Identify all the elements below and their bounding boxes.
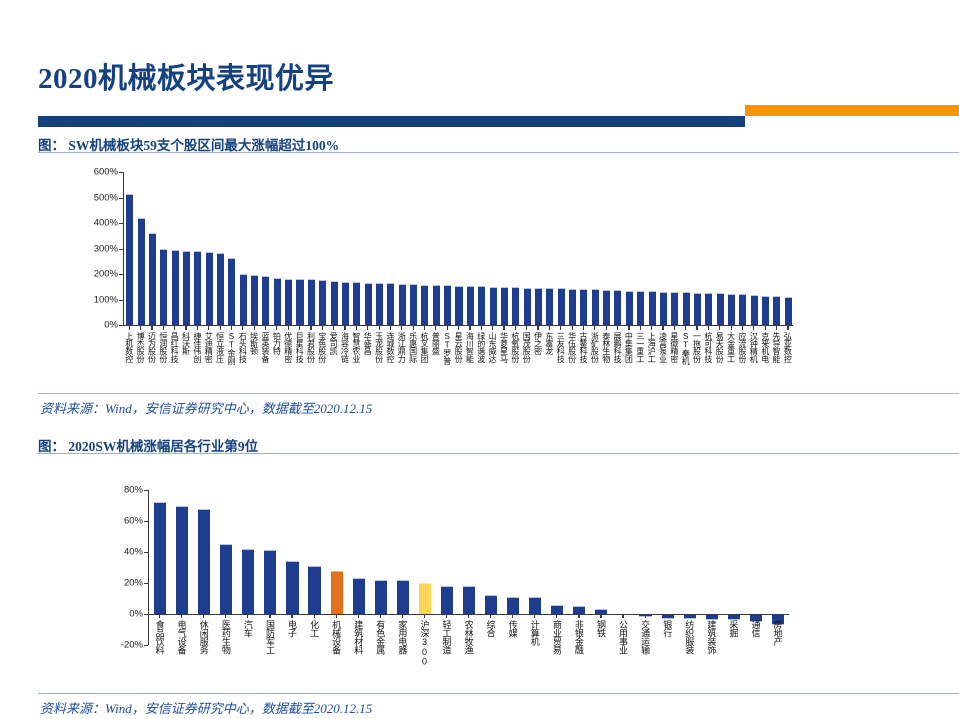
x-axis-label: 国防军工: [265, 620, 274, 654]
bar: [149, 233, 156, 325]
bar: [126, 194, 133, 325]
x-tick-mark: [424, 326, 425, 330]
x-tick-mark: [696, 326, 697, 330]
x-axis-label: 银行: [662, 620, 671, 637]
x-tick-mark: [151, 326, 152, 330]
bar: [569, 289, 576, 325]
y-tick-label: -20%: [121, 640, 143, 650]
x-axis-label: 上海沪工: [647, 332, 655, 362]
bar: [296, 279, 303, 325]
bar: [785, 297, 792, 325]
x-tick-mark: [265, 326, 266, 330]
x-tick-mark: [534, 614, 535, 618]
bar: [478, 286, 485, 325]
x-tick-mark: [578, 614, 579, 618]
x-tick-mark: [667, 614, 668, 618]
x-axis-label: 玉龙股份: [374, 332, 382, 362]
bar: [387, 283, 394, 325]
bar: [671, 292, 678, 325]
y-tick-label: 80%: [124, 485, 143, 495]
x-axis-label: 国茂股份: [522, 332, 530, 362]
bar: [444, 285, 451, 325]
x-tick-mark: [401, 326, 402, 330]
figure1-caption: 图： SW机械板块59支个股区间最大涨幅超过100%: [38, 134, 339, 154]
y-tick-label: 200%: [94, 269, 118, 279]
y-tick-mark: [119, 325, 123, 326]
bar: [285, 279, 292, 325]
x-axis-label: 化工: [309, 620, 318, 637]
bar: [274, 278, 281, 325]
bar: [637, 291, 644, 325]
y-tick-mark: [144, 645, 148, 646]
x-tick-mark: [765, 326, 766, 330]
x-axis-label: 汽车: [243, 620, 252, 637]
x-axis-label: 先导智能: [772, 332, 780, 362]
y-tick-label: 20%: [124, 578, 143, 588]
bar: [614, 290, 621, 325]
x-axis-label: 非银金融: [574, 620, 583, 654]
x-tick-mark: [572, 326, 573, 330]
x-tick-mark: [645, 614, 646, 618]
x-axis-label: 机械设备: [331, 620, 340, 654]
x-tick-mark: [242, 326, 243, 330]
x-tick-mark: [755, 614, 756, 618]
bar: [421, 285, 428, 325]
x-tick-mark: [685, 326, 686, 330]
y-tick-mark: [144, 583, 148, 584]
bar: [220, 544, 232, 614]
x-axis-label: 绿的谐波: [477, 332, 485, 362]
x-axis-label: 伊之密: [533, 332, 541, 355]
bar: [441, 586, 453, 614]
x-axis-label: 蓝英装备: [261, 332, 269, 362]
x-axis-label: 通信: [750, 620, 759, 637]
bar: [717, 293, 724, 325]
x-tick-mark: [247, 614, 248, 618]
figure2-source: 资料来源：Wind，安信证券研究中心，数据截至2020.12.15: [40, 698, 372, 717]
x-axis-label: 电气设备: [177, 620, 186, 654]
bar: [183, 251, 190, 325]
x-axis-label: 钢铁: [596, 620, 605, 637]
x-tick-mark: [336, 614, 337, 618]
x-tick-mark: [356, 326, 357, 330]
x-tick-mark: [628, 326, 629, 330]
x-tick-mark: [689, 614, 690, 618]
bar: [353, 282, 360, 325]
x-axis-label: 应流股份: [738, 332, 746, 362]
x-axis-label: 汉钟精机: [749, 332, 757, 362]
bar: [728, 294, 735, 325]
x-axis-label: 杭可科技: [704, 332, 712, 362]
x-axis-label: ST罗普: [443, 332, 451, 364]
x-tick-mark: [447, 326, 448, 330]
x-tick-mark: [379, 326, 380, 330]
x-tick-mark: [600, 614, 601, 618]
x-tick-mark: [640, 326, 641, 330]
x-tick-mark: [622, 614, 623, 618]
bar: [580, 289, 587, 325]
y-tick-label: 600%: [94, 167, 118, 177]
bar: [463, 586, 475, 614]
x-axis-label: 克来机电: [761, 332, 769, 362]
x-axis-label: 交通运输: [640, 620, 649, 654]
x-axis-label: 石头科技: [238, 332, 246, 362]
x-tick-mark: [402, 614, 403, 618]
x-axis-label: 杭氧股份: [511, 332, 519, 362]
bar: [342, 282, 349, 325]
x-axis-label: 三友科技: [556, 332, 564, 362]
figure1-caption-underline: [38, 152, 959, 153]
x-tick-mark: [651, 326, 652, 330]
x-tick-mark: [458, 326, 459, 330]
bar: [410, 284, 417, 325]
bar: [251, 275, 258, 325]
bar: [603, 290, 610, 325]
x-tick-mark: [492, 326, 493, 330]
x-axis-label: 海川智能: [465, 332, 473, 362]
bar: [240, 274, 247, 325]
x-tick-mark: [777, 614, 778, 618]
bar: [397, 580, 409, 614]
bar: [626, 291, 633, 325]
x-tick-mark: [310, 326, 311, 330]
bar: [319, 280, 326, 325]
x-tick-mark: [556, 614, 557, 618]
bar: [198, 509, 210, 614]
x-axis-label: 综合: [485, 620, 494, 637]
bar: [194, 251, 201, 325]
y-tick-label: 500%: [94, 193, 118, 203]
x-tick-mark: [731, 326, 732, 330]
x-axis-label: 弘亚数控: [783, 332, 791, 362]
x-tick-mark: [367, 326, 368, 330]
x-axis-label: 传媒: [508, 620, 517, 637]
x-tick-mark: [674, 326, 675, 330]
bar: [558, 288, 565, 325]
x-axis-label: 迈为股份: [147, 332, 155, 362]
x-tick-mark: [185, 326, 186, 330]
y-tick-label: 400%: [94, 218, 118, 228]
x-axis-label: 铂力特: [272, 332, 280, 355]
figure2-caption-underline: [38, 453, 959, 454]
x-axis-label: 电子: [287, 620, 296, 637]
x-axis-label: 乐惠国际: [408, 332, 416, 362]
y-tick-label: 100%: [94, 295, 118, 305]
x-axis-label: 家用电器: [397, 620, 406, 654]
x-tick-mark: [231, 326, 232, 330]
x-tick-mark: [220, 326, 221, 330]
bar: [512, 287, 519, 325]
x-tick-mark: [288, 326, 289, 330]
x-axis-label: 公用事业: [618, 620, 627, 654]
bar: [751, 295, 758, 325]
x-tick-mark: [129, 326, 130, 330]
bar: [455, 286, 462, 325]
bar: [376, 283, 383, 325]
bar: [365, 283, 372, 325]
x-tick-mark: [413, 326, 414, 330]
x-axis-label: 华伍股份: [567, 332, 575, 362]
bar: [242, 549, 254, 614]
x-axis-label: 展鹏科技: [613, 332, 621, 362]
x-axis-label: 有色金属: [375, 620, 384, 654]
x-axis-label: 上机数控: [125, 332, 133, 362]
bar: [467, 286, 474, 325]
x-axis-label: 华菱星马: [499, 332, 507, 362]
x-tick-mark: [526, 326, 527, 330]
chart1-bars: [124, 172, 793, 325]
x-tick-mark: [390, 326, 391, 330]
x-axis-label: 星云股份: [454, 332, 462, 362]
x-tick-mark: [322, 326, 323, 330]
x-axis-label: 一拖股份: [692, 332, 700, 362]
x-axis-label: 艾迪精密: [204, 332, 212, 362]
y-tick-mark: [144, 614, 148, 615]
x-tick-mark: [549, 326, 550, 330]
x-tick-mark: [481, 326, 482, 330]
x-axis-label: 博杰股份: [136, 332, 144, 362]
x-tick-mark: [753, 326, 754, 330]
bar: [419, 583, 431, 614]
slide: 2020机械板块表现优异 图： SW机械板块59支个股区间最大涨幅超过100% …: [0, 0, 959, 719]
bar: [490, 287, 497, 325]
x-axis-label: 计算机: [530, 620, 539, 646]
x-axis-label: 商业贸易: [552, 620, 561, 654]
figure1-source: 资料来源：Wind，安信证券研究中心，数据截至2020.12.15: [40, 398, 372, 417]
x-axis-label: 泰林生物: [602, 332, 610, 362]
x-axis-label: 优德精密: [284, 332, 292, 362]
bar: [507, 597, 519, 614]
bar: [172, 250, 179, 325]
bar: [308, 566, 320, 614]
x-axis-label: 山东威达: [488, 332, 496, 362]
x-axis-label: 房地产: [772, 620, 781, 646]
bar: [399, 284, 406, 325]
x-axis-label: 海容冷链: [340, 332, 348, 362]
x-axis-label: 东富龙: [545, 332, 553, 355]
x-axis-label: 埃斯顿: [250, 332, 258, 355]
y-tick-mark: [119, 223, 123, 224]
bar: [286, 561, 298, 614]
x-tick-mark: [503, 326, 504, 330]
x-axis-label: 浙矿股份: [590, 332, 598, 362]
x-tick-mark: [594, 326, 595, 330]
x-tick-mark: [344, 326, 345, 330]
bar: [433, 285, 440, 325]
y-tick-mark: [119, 198, 123, 199]
x-axis-label: 建筑装饰: [706, 620, 715, 654]
y-tick-mark: [119, 300, 123, 301]
x-tick-mark: [711, 614, 712, 618]
bar: [524, 288, 531, 325]
bar: [375, 580, 387, 614]
chart-sector-gains: -20%0%20%40%60%80% 食品饮料电气设备休闲服务医药生物汽车国防军…: [148, 490, 788, 645]
figure2-caption: 图： 2020SW机械涨幅居各行业第9位: [38, 435, 258, 455]
x-axis-label: 建筑材料: [353, 620, 362, 654]
y-tick-label: 40%: [124, 547, 143, 557]
bar: [649, 291, 656, 325]
x-axis-label: 捷佳伟创: [193, 332, 201, 362]
x-axis-label: 昌红科技: [170, 332, 178, 362]
y-tick-mark: [119, 274, 123, 275]
bar: [739, 294, 746, 325]
x-tick-mark: [662, 326, 663, 330]
x-tick-mark: [560, 326, 561, 330]
header-rule-blue: [38, 116, 745, 127]
y-tick-label: 300%: [94, 244, 118, 254]
x-tick-mark: [269, 614, 270, 618]
x-axis-label: 恒润股份: [159, 332, 167, 362]
x-tick-mark: [424, 614, 425, 618]
x-tick-mark: [174, 326, 175, 330]
x-axis-label: ST秦机: [681, 332, 689, 364]
x-axis-label: 连城数控: [386, 332, 394, 362]
x-tick-mark: [606, 326, 607, 330]
x-axis-label: 中集集团: [624, 332, 632, 362]
x-axis-label: 浙江鼎力: [397, 332, 405, 362]
x-axis-label: 大金重工: [726, 332, 734, 362]
bar: [705, 293, 712, 325]
x-tick-mark: [435, 326, 436, 330]
bar: [308, 279, 315, 325]
bar: [264, 550, 276, 614]
page-title: 2020机械板块表现优异: [38, 55, 334, 97]
x-axis-label: 恒立液压: [215, 332, 223, 362]
x-axis-label: 爱司凯: [329, 332, 337, 355]
x-axis-label: 华盛昌: [363, 332, 371, 355]
bar: [331, 281, 338, 325]
x-tick-mark: [512, 614, 513, 618]
x-axis-label: 医药生物: [221, 620, 230, 654]
bar: [573, 606, 585, 614]
x-tick-mark: [225, 614, 226, 618]
x-tick-mark: [254, 326, 255, 330]
x-tick-mark: [537, 326, 538, 330]
x-tick-mark: [140, 326, 141, 330]
figure2-source-rule: [38, 693, 959, 694]
x-axis-label: 采掘: [728, 620, 737, 637]
bar: [331, 571, 343, 614]
x-tick-mark: [333, 326, 334, 330]
x-tick-mark: [490, 614, 491, 618]
figure1-source-rule: [38, 393, 959, 394]
x-axis-label: 纺织服装: [684, 620, 693, 654]
x-axis-label: 古鳌科技: [579, 332, 587, 362]
bar: [546, 288, 553, 325]
x-tick-mark: [469, 326, 470, 330]
y-tick-label: 60%: [124, 516, 143, 526]
y-tick-mark: [119, 172, 123, 173]
x-axis-label: 宝色股份: [318, 332, 326, 362]
x-tick-mark: [617, 326, 618, 330]
x-axis-label: 食品饮料: [154, 620, 163, 654]
chart-stock-gains: 0%100%200%300%400%500%600% 上机数控博杰股份迈为股份恒…: [123, 172, 793, 325]
bar: [501, 287, 508, 325]
bar: [485, 595, 497, 614]
x-tick-mark: [742, 326, 743, 330]
x-axis-label: 沪深300: [419, 620, 428, 666]
bar: [176, 506, 188, 615]
y-tick-label: 0%: [104, 320, 118, 330]
y-tick-label: 0%: [129, 609, 143, 619]
x-tick-mark: [203, 614, 204, 618]
x-axis-label: 巨星科技: [295, 332, 303, 362]
bar: [154, 502, 166, 614]
y-tick-mark: [119, 249, 123, 250]
x-axis-label: 智慧农业: [352, 332, 360, 362]
x-axis-label: 易天股份: [715, 332, 723, 362]
chart1-plot-area: [123, 172, 793, 325]
bar: [535, 288, 542, 325]
x-tick-mark: [299, 326, 300, 330]
bar: [138, 218, 145, 325]
x-axis-label: 普丽盛: [431, 332, 439, 355]
x-tick-mark: [787, 326, 788, 330]
x-tick-mark: [276, 326, 277, 330]
bar: [160, 249, 167, 326]
bar: [773, 296, 780, 325]
x-axis-label: 三一重工: [636, 332, 644, 362]
bar: [551, 605, 563, 614]
bar: [694, 293, 701, 325]
bar: [660, 292, 667, 325]
bar: [228, 258, 235, 325]
x-tick-mark: [468, 614, 469, 618]
bar: [206, 252, 213, 325]
x-tick-mark: [380, 614, 381, 618]
x-axis-label: ST金刚: [227, 332, 235, 364]
bar: [529, 597, 541, 614]
bar: [592, 289, 599, 325]
x-tick-mark: [719, 326, 720, 330]
x-tick-mark: [733, 614, 734, 618]
x-tick-mark: [446, 614, 447, 618]
bar: [762, 296, 769, 325]
y-tick-mark: [144, 552, 148, 553]
x-tick-mark: [515, 326, 516, 330]
x-axis-label: 杭叉集团: [420, 332, 428, 362]
x-axis-label: 利君股份: [306, 332, 314, 362]
x-tick-mark: [197, 326, 198, 330]
x-tick-mark: [358, 614, 359, 618]
bar: [262, 276, 269, 325]
y-tick-mark: [144, 521, 148, 522]
bar: [683, 292, 690, 325]
x-axis-label: 凌霄泵业: [658, 332, 666, 362]
x-tick-mark: [708, 326, 709, 330]
x-axis-label: 农林牧渔: [463, 620, 472, 654]
bar: [353, 578, 365, 614]
x-tick-mark: [208, 326, 209, 330]
x-axis-label: 休闲服务: [199, 620, 208, 654]
x-tick-mark: [583, 326, 584, 330]
x-tick-mark: [291, 614, 292, 618]
y-tick-mark: [144, 490, 148, 491]
x-tick-mark: [163, 326, 164, 330]
x-axis-label: 轻工制造: [441, 620, 450, 654]
bar: [217, 253, 224, 325]
x-tick-mark: [181, 614, 182, 618]
x-axis-label: 科沃斯: [181, 332, 189, 355]
x-axis-label: 星徽精密: [670, 332, 678, 362]
x-tick-mark: [776, 326, 777, 330]
x-tick-mark: [159, 614, 160, 618]
header-rule-orange: [745, 105, 959, 116]
x-tick-mark: [314, 614, 315, 618]
